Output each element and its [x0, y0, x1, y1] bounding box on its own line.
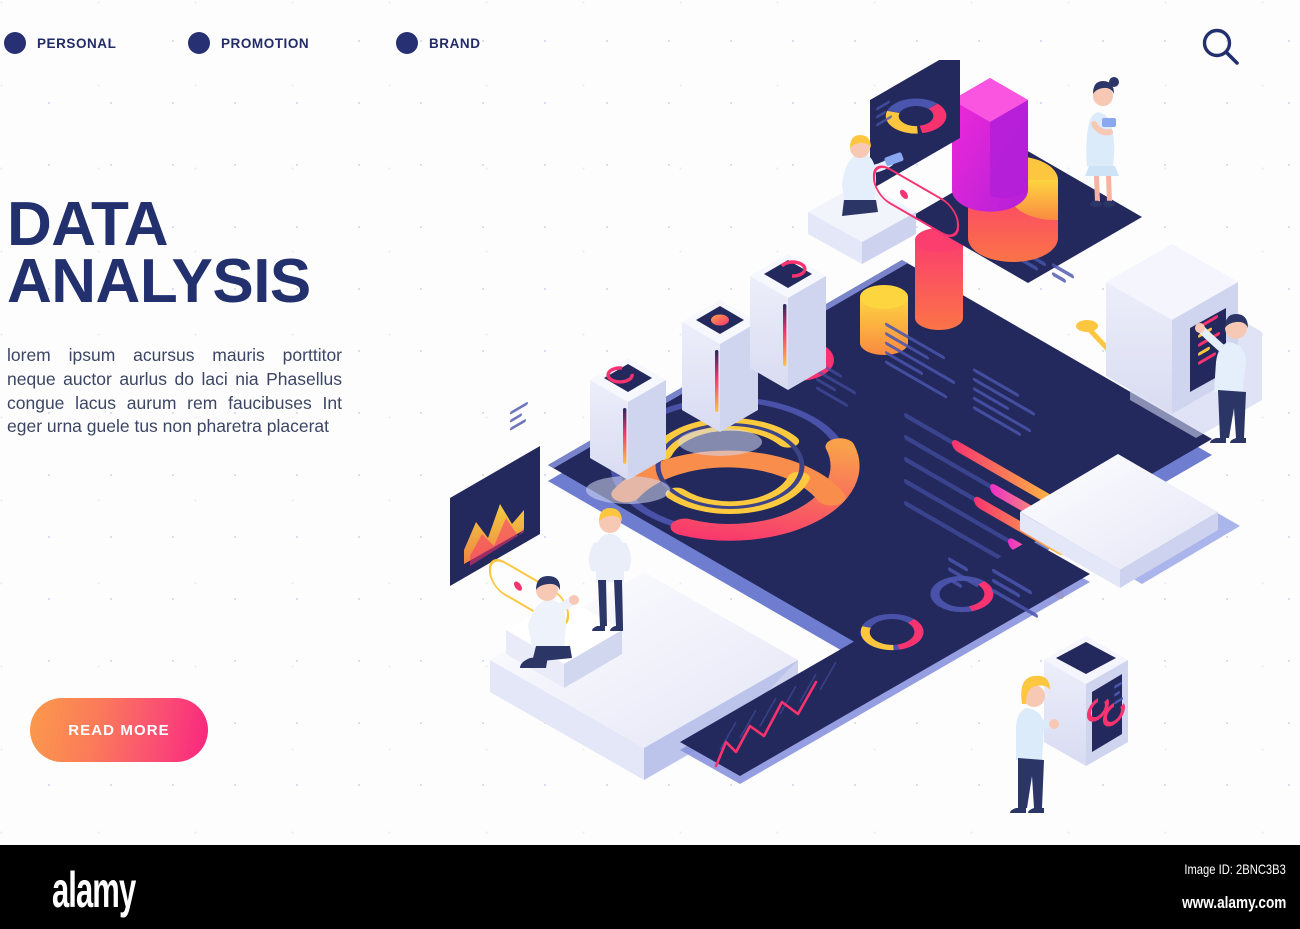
- tower-kiosk-1: [586, 358, 670, 504]
- dot-icon: [4, 32, 26, 54]
- kiosk-bottom: [1044, 636, 1128, 766]
- image-id-label: Image ID: 2BNC3B3: [1185, 861, 1286, 877]
- headline-line-2: ANALYSIS: [7, 253, 352, 310]
- tablet-donut-screen: [870, 60, 960, 190]
- tower-kiosk-2: [678, 300, 762, 456]
- hero-copy: DATAANALYSIS lorem ipsum acursus mauris …: [7, 196, 352, 439]
- cylinder-bar-1: [860, 285, 908, 355]
- isometric-illustration: [430, 60, 1300, 820]
- cylinder-bar-2: [915, 228, 963, 330]
- nav-item-label: PROMOTION: [221, 36, 309, 51]
- hero-section: PERSONAL PROMOTION BRAND DATAANALYSIS lo…: [0, 0, 1300, 845]
- page-title: DATAANALYSIS: [7, 196, 352, 310]
- dot-icon: [188, 32, 210, 54]
- watermark-footer: alamy Image ID: 2BNC3B3 www.alamy.com: [0, 845, 1300, 929]
- nav-item-label: PERSONAL: [37, 36, 116, 51]
- alamy-logo: alamy: [52, 861, 135, 919]
- read-more-button[interactable]: READ MORE: [30, 698, 208, 762]
- nav-item-label: BRAND: [429, 36, 481, 51]
- alamy-url-label: www.alamy.com: [1182, 893, 1286, 913]
- tower-kiosk-3: [750, 254, 826, 390]
- dot-icon: [396, 32, 418, 54]
- page-root: PERSONAL PROMOTION BRAND DATAANALYSIS lo…: [0, 0, 1300, 929]
- nav-item-promotion[interactable]: PROMOTION: [188, 32, 309, 54]
- nav-item-brand[interactable]: BRAND: [396, 32, 481, 54]
- nav-item-personal[interactable]: PERSONAL: [4, 32, 116, 54]
- hero-body-text: lorem ipsum acursus mauris porttitor neq…: [7, 344, 342, 439]
